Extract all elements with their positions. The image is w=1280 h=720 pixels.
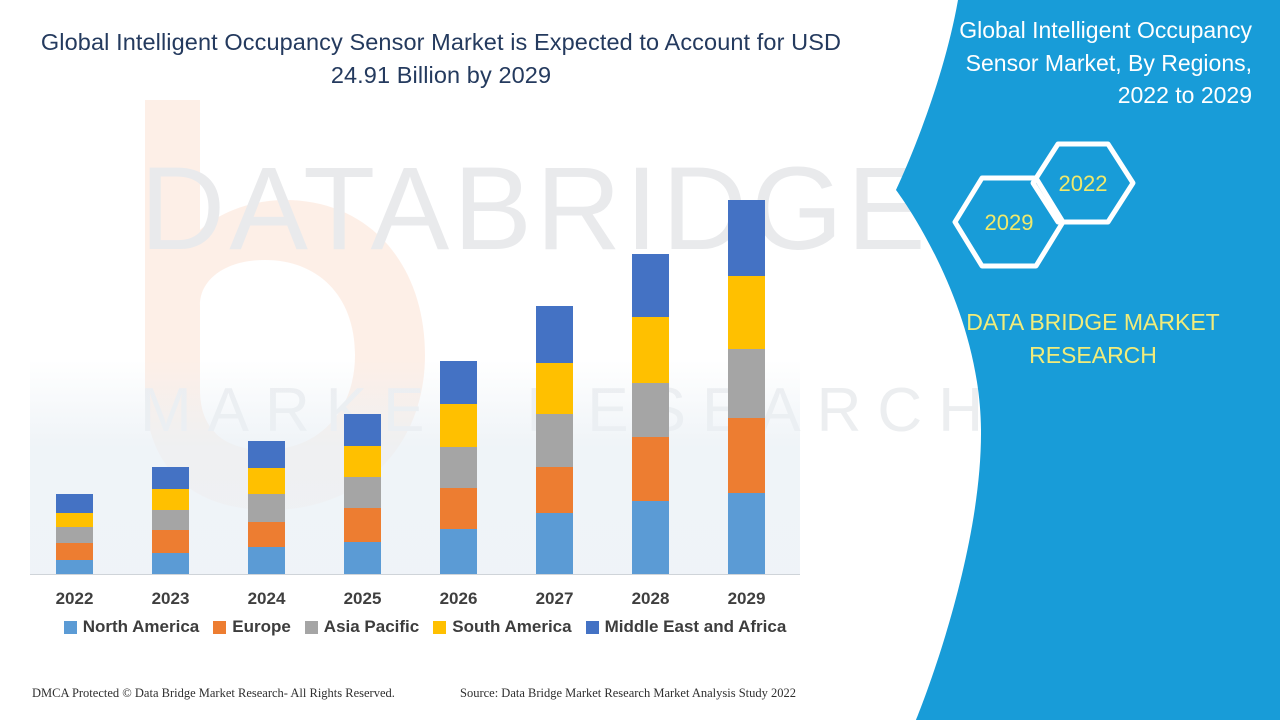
bar-segment (152, 489, 189, 510)
bar-2027 (536, 306, 573, 574)
bar-segment (344, 508, 381, 542)
bar-segment (632, 437, 669, 501)
legend-label: Europe (232, 617, 291, 637)
bar-segment (344, 542, 381, 574)
bar-segment (152, 510, 189, 530)
hexagon-year-badges: 2022 2029 (940, 138, 1170, 268)
brand-name: DATA BRIDGE MARKET RESEARCH (928, 306, 1258, 371)
right-brand-panel: Global Intelligent Occupancy Sensor Mark… (840, 0, 1280, 720)
legend-label: Middle East and Africa (605, 617, 787, 637)
chart-legend: North AmericaEuropeAsia PacificSouth Ame… (0, 617, 850, 637)
bar-segment (344, 414, 381, 446)
legend-item[interactable]: North America (64, 617, 200, 637)
bar-segment (440, 529, 477, 574)
footer-source: Source: Data Bridge Market Research Mark… (460, 686, 796, 701)
bar-segment (440, 488, 477, 529)
bar-segment (248, 522, 285, 547)
stacked-bar-chart: 20222023202420252026202720282029 North A… (0, 0, 900, 720)
legend-swatch-icon (305, 621, 318, 634)
bar-segment (152, 530, 189, 553)
bar-segment (56, 527, 93, 543)
bar-2025 (344, 414, 381, 574)
bar-segment (440, 361, 477, 404)
x-axis-label-2022: 2022 (35, 589, 115, 609)
x-axis-label-2026: 2026 (419, 589, 499, 609)
bar-2026 (440, 361, 477, 574)
bar-segment (344, 477, 381, 508)
bar-segment (536, 363, 573, 414)
bar-segment (632, 317, 669, 383)
legend-label: North America (83, 617, 200, 637)
bar-segment (248, 494, 285, 522)
bar-segment (248, 468, 285, 494)
bar-segment (728, 493, 765, 574)
bar-segment (632, 501, 669, 574)
chart-x-axis-labels: 20222023202420252026202720282029 (0, 589, 900, 613)
bar-segment (536, 414, 573, 467)
legend-item[interactable]: Middle East and Africa (586, 617, 787, 637)
infographic-root: DATABRIDGE MARKET RESEARCH Global Intell… (0, 0, 1280, 720)
legend-swatch-icon (433, 621, 446, 634)
left-content-panel: DATABRIDGE MARKET RESEARCH Global Intell… (0, 0, 900, 720)
bar-segment (56, 494, 93, 513)
bar-segment (56, 513, 93, 527)
legend-label: South America (452, 617, 571, 637)
legend-swatch-icon (586, 621, 599, 634)
legend-item[interactable]: Asia Pacific (305, 617, 419, 637)
legend-label: Asia Pacific (324, 617, 419, 637)
bar-segment (536, 513, 573, 574)
bar-segment (248, 441, 285, 468)
bar-segment (152, 467, 189, 489)
bar-segment (248, 547, 285, 574)
hex-label-2022: 2022 (1059, 171, 1108, 196)
bar-2028 (632, 254, 669, 574)
x-axis-label-2023: 2023 (131, 589, 211, 609)
bar-segment (536, 467, 573, 513)
x-axis-label-2029: 2029 (707, 589, 787, 609)
x-axis-label-2025: 2025 (323, 589, 403, 609)
bar-segment (440, 447, 477, 488)
x-axis-label-2024: 2024 (227, 589, 307, 609)
bar-segment (728, 276, 765, 349)
bar-2024 (248, 441, 285, 574)
hex-label-2029: 2029 (985, 210, 1034, 235)
legend-item[interactable]: Europe (213, 617, 291, 637)
legend-swatch-icon (213, 621, 226, 634)
legend-swatch-icon (64, 621, 77, 634)
bar-segment (632, 383, 669, 437)
legend-item[interactable]: South America (433, 617, 571, 637)
panel-title: Global Intelligent Occupancy Sensor Mark… (912, 14, 1252, 112)
bar-segment (440, 404, 477, 447)
bar-segment (728, 200, 765, 276)
x-axis-label-2028: 2028 (611, 589, 691, 609)
bar-2023 (152, 467, 189, 574)
x-axis-label-2027: 2027 (515, 589, 595, 609)
bar-segment (152, 553, 189, 574)
bar-2029 (728, 200, 765, 574)
bar-segment (56, 560, 93, 574)
bar-segment (728, 349, 765, 418)
bar-segment (728, 418, 765, 493)
chart-baseline-axis (30, 574, 800, 575)
bar-segment (536, 306, 573, 363)
bar-segment (56, 543, 93, 560)
footer-copyright: DMCA Protected © Data Bridge Market Rese… (32, 686, 395, 701)
bar-2022 (56, 494, 93, 574)
bar-segment (344, 446, 381, 477)
bar-segment (632, 254, 669, 317)
